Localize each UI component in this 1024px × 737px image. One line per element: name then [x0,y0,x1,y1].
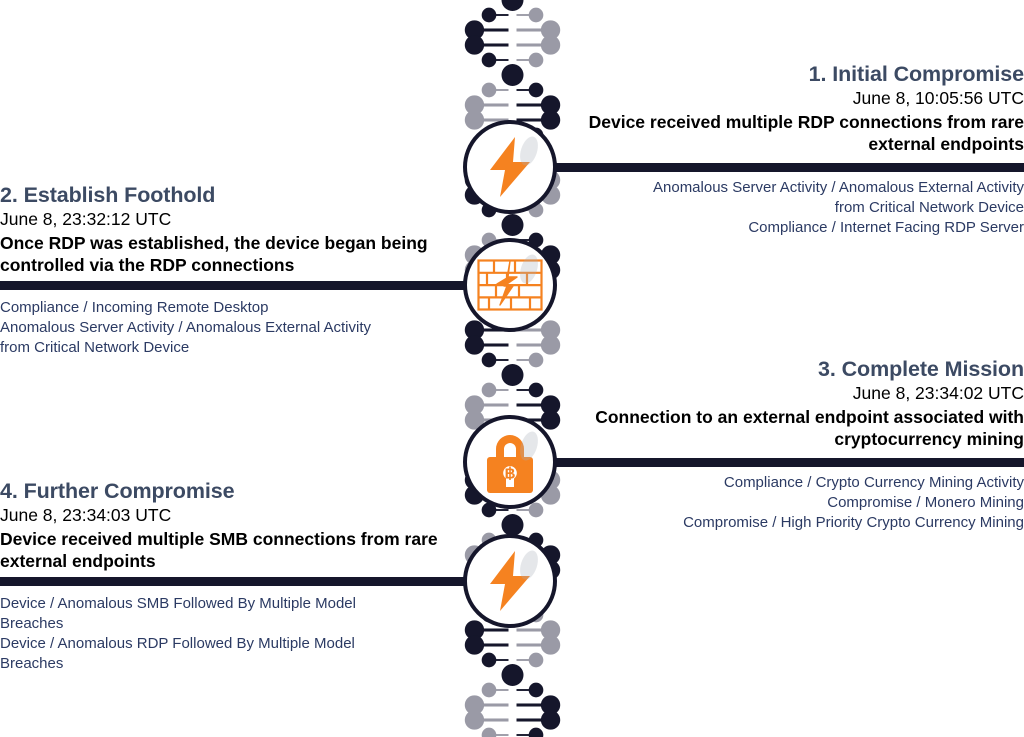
alert-item: Compromise / Monero Mining [562,493,1024,513]
stage-node-1[interactable] [463,120,557,214]
alert-item: Anomalous Server Activity / Anomalous Ex… [0,318,462,358]
stage-description-3: Connection to an external endpoint assoc… [562,406,1024,450]
alert-item: Anomalous Server Activity / Anomalous Ex… [562,178,1024,218]
stage-panel-1: 1. Initial Compromise June 8, 10:05:56 U… [562,62,1024,155]
stage-alerts-2: Compliance / Incoming Remote Desktop Ano… [0,298,462,358]
alert-item: Device / Anomalous RDP Followed By Multi… [0,634,462,674]
bitcoin-padlock-icon: B [481,430,539,494]
stage-timestamp-2: June 8, 23:32:12 UTC [0,209,462,230]
lightning-bolt-icon [482,136,538,198]
alert-item: Device / Anomalous SMB Followed By Multi… [0,594,462,634]
alert-item: Compromise / High Priority Crypto Curren… [562,513,1024,533]
alert-item: Compliance / Internet Facing RDP Server [562,218,1024,238]
stage-description-1: Device received multiple RDP connections… [562,111,1024,155]
stage-panel-2: 2. Establish Foothold June 8, 23:32:12 U… [0,183,462,276]
stage-node-4[interactable] [463,534,557,628]
stage-description-2: Once RDP was established, the device beg… [0,232,462,276]
stage-node-3[interactable]: B [463,415,557,509]
connector-bar-stage-3 [545,458,1024,467]
stage-timestamp-4: June 8, 23:34:03 UTC [0,505,462,526]
connector-bar-stage-2 [0,281,485,290]
lightning-bolt-icon [482,550,538,612]
stage-alerts-3: Compliance / Crypto Currency Mining Acti… [562,473,1024,533]
stage-title-4: 4. Further Compromise [0,479,462,504]
stage-node-2[interactable] [463,238,557,332]
connector-bar-stage-4 [0,577,485,586]
alert-item: Compliance / Crypto Currency Mining Acti… [562,473,1024,493]
stage-timestamp-1: June 8, 10:05:56 UTC [562,88,1024,109]
stage-timestamp-3: June 8, 23:34:02 UTC [562,383,1024,404]
stage-panel-4: 4. Further Compromise June 8, 23:34:03 U… [0,479,462,572]
alert-item: Compliance / Incoming Remote Desktop [0,298,462,318]
stage-title-3: 3. Complete Mission [562,357,1024,382]
stage-title-1: 1. Initial Compromise [562,62,1024,87]
stage-description-4: Device received multiple SMB connections… [0,528,462,572]
stage-panel-3: 3. Complete Mission June 8, 23:34:02 UTC… [562,357,1024,450]
cracked-firewall-icon [477,259,543,311]
stage-title-2: 2. Establish Foothold [0,183,462,208]
connector-bar-stage-1 [545,163,1024,172]
stage-alerts-1: Anomalous Server Activity / Anomalous Ex… [562,178,1024,238]
stage-alerts-4: Device / Anomalous SMB Followed By Multi… [0,594,462,674]
